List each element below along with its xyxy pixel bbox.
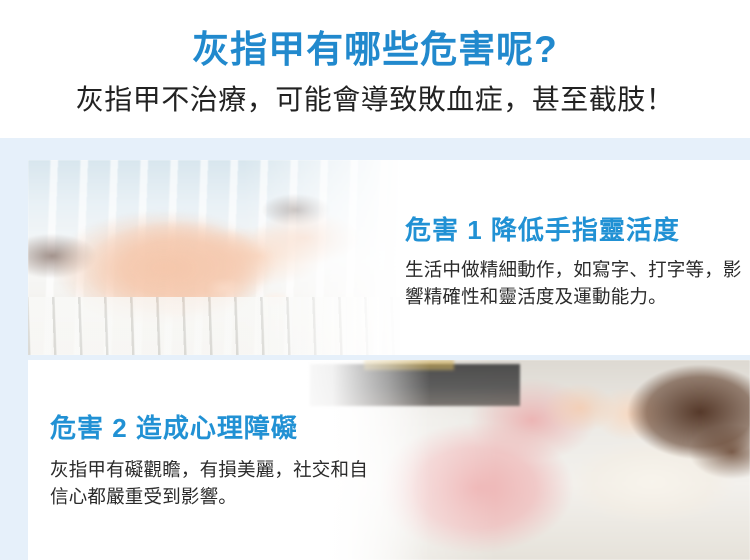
harm-card-1-heading: 危害 1 降低手指靈活度 [405, 210, 680, 247]
page-subtitle: 灰指甲不治療，可能會導致敗血症，甚至截肢！ [0, 80, 750, 120]
harm-card-2: 危害 2 造成心理障礙 灰指甲有礙觀瞻，有損美麗，社交和自信心都嚴重受到影響。 [28, 360, 750, 560]
infographic-page: 灰指甲有哪些危害呢? 灰指甲不治療，可能會導致敗血症，甚至截肢！ 危害 1 降低… [0, 0, 750, 560]
harm-card-2-body: 灰指甲有礙觀瞻，有損美麗，社交和自信心都嚴重受到影響。 [50, 456, 370, 510]
page-title: 灰指甲有哪些危害呢? [0, 26, 750, 74]
harm-card-1-body: 生活中做精細動作，如寫字、打字等，影響精確性和靈活度及運動能力。 [405, 256, 745, 310]
header-section: 灰指甲有哪些危害呢? 灰指甲不治療，可能會導致敗血症，甚至截肢！ [0, 0, 750, 138]
keyboard-typing-image [28, 160, 400, 355]
photo-keyboard-keys [28, 297, 400, 355]
harm-card-2-text: 危害 2 造成心理障礙 灰指甲有礙觀瞻，有損美麗，社交和自信心都嚴重受到影響。 [50, 360, 370, 560]
harm-card-1-text: 危害 1 降低手指靈活度 生活中做精細動作，如寫字、打字等，影響精確性和靈活度及… [405, 160, 750, 355]
content-canvas: 危害 1 降低手指靈活度 生活中做精細動作，如寫字、打字等，影響精確性和靈活度及… [0, 138, 750, 560]
harm-card-1: 危害 1 降低手指靈活度 生活中做精細動作，如寫字、打字等，影響精確性和靈活度及… [28, 160, 750, 355]
harm-card-2-heading: 危害 2 造成心理障礙 [50, 408, 298, 445]
